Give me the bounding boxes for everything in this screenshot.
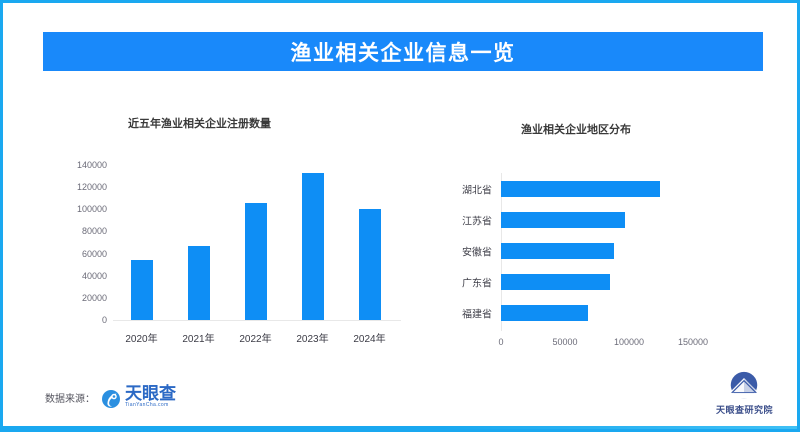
brand-name-cn: 天眼查 (125, 385, 176, 402)
bar-row: 福建省 (501, 305, 693, 321)
y-axis-category-label: 湖北省 (462, 181, 492, 196)
institute-emblem-icon (726, 371, 762, 401)
vertical-bar-plot-area: 0200004000060000800001000001200001400002… (113, 165, 398, 320)
x-axis-line (113, 320, 401, 321)
y-axis-tick-label: 120000 (77, 182, 107, 192)
y-axis-category-label: 福建省 (462, 305, 492, 320)
bar-column: 2022年 (245, 165, 267, 320)
y-axis-tick-label: 80000 (82, 226, 107, 236)
data-source: 数据来源： 天眼查 TianYanCha.com (45, 385, 176, 409)
source-label: 数据来源： (45, 390, 95, 405)
bar-column: 2021年 (188, 165, 210, 320)
bar (359, 209, 381, 320)
bar (501, 305, 588, 321)
bottom-accent-bar (3, 426, 797, 429)
institute-name: 天眼查研究院 (716, 403, 773, 416)
bar-row: 湖北省 (501, 181, 693, 197)
y-axis-tick-label: 100000 (77, 204, 107, 214)
bar (501, 181, 660, 197)
page-title: 渔业相关企业信息一览 (291, 37, 516, 67)
tianyancha-logo: 天眼查 TianYanCha.com (101, 385, 176, 409)
y-axis-category-label: 安徽省 (462, 243, 492, 258)
x-axis-category-label: 2023年 (296, 330, 328, 345)
y-axis-category-label: 江苏省 (462, 212, 492, 227)
y-axis-tick-label: 0 (102, 315, 107, 325)
chart-panel-regions: 渔业相关企业地区分布 湖北省江苏省安徽省广东省福建省05000010000015… (433, 93, 763, 343)
x-axis-category-label: 2020年 (125, 330, 157, 345)
bar (188, 246, 210, 320)
chart-title-registrations: 近五年渔业相关企业注册数量 (128, 115, 271, 131)
x-axis-category-label: 2022年 (239, 330, 271, 345)
x-axis-category-label: 2021年 (182, 330, 214, 345)
x-axis-tick-label: 100000 (614, 337, 644, 347)
tianyancha-eye-icon (101, 389, 121, 409)
bar-column: 2020年 (131, 165, 153, 320)
bar (501, 212, 625, 228)
y-axis-tick-label: 140000 (77, 160, 107, 170)
chart-title-regions: 渔业相关企业地区分布 (521, 121, 631, 137)
x-axis-tick-label: 0 (498, 337, 503, 347)
x-axis-category-label: 2024年 (353, 330, 385, 345)
institute-logo: 天眼查研究院 (716, 371, 773, 416)
bar (131, 260, 153, 320)
bar (245, 203, 267, 320)
bar-row: 安徽省 (501, 243, 693, 259)
y-axis-category-label: 广东省 (462, 274, 492, 289)
y-axis-tick-label: 40000 (82, 271, 107, 281)
bar-column: 2023年 (302, 165, 324, 320)
bar (501, 274, 610, 290)
horizontal-bar-plot-area: 湖北省江苏省安徽省广东省福建省050000100000150000 (501, 173, 693, 328)
bar (501, 243, 614, 259)
bar-row: 广东省 (501, 274, 693, 290)
bar-column: 2024年 (359, 165, 381, 320)
tianyancha-wordmark: 天眼查 TianYanCha.com (125, 385, 176, 409)
x-axis-tick-label: 150000 (678, 337, 708, 347)
bar-row: 江苏省 (501, 212, 693, 228)
infographic-page: 渔业相关企业信息一览 近五年渔业相关企业注册数量 020000400006000… (0, 0, 800, 432)
bar (302, 173, 324, 320)
chart-panel-registrations: 近五年渔业相关企业注册数量 02000040000600008000010000… (43, 93, 423, 343)
y-axis-tick-label: 20000 (82, 293, 107, 303)
y-axis-tick-label: 60000 (82, 249, 107, 259)
x-axis-tick-label: 50000 (552, 337, 577, 347)
title-banner: 渔业相关企业信息一览 (43, 32, 763, 71)
brand-name-en: TianYanCha.com (125, 402, 169, 409)
